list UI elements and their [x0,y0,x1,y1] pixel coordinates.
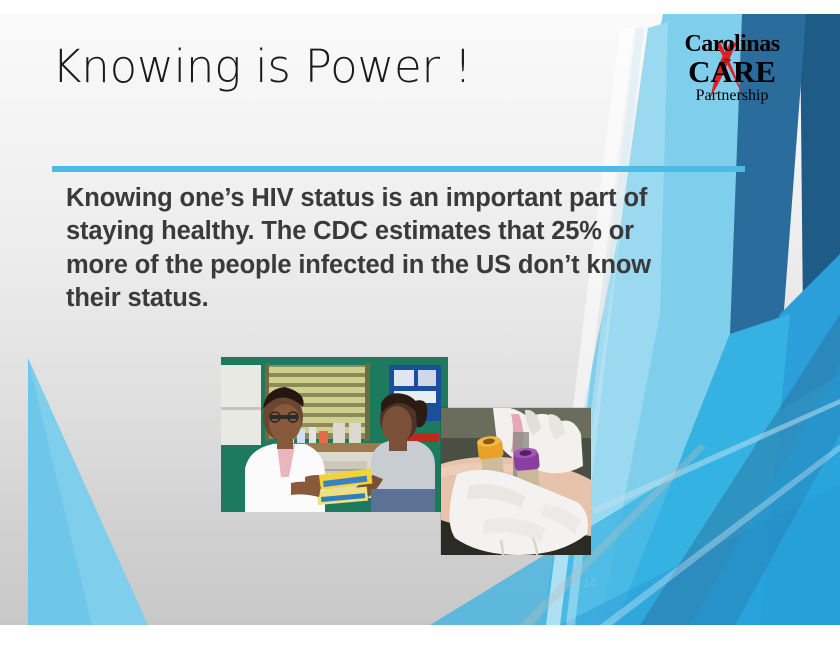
clinic-counseling-photo-art [221,357,448,512]
carolinas-care-partnership-logo: Carolinas CARE Partnership [672,32,792,110]
deco-shape-medium-lower-right [700,254,840,625]
slide-body-text: Knowing one’s HIV status is an important… [66,182,691,316]
logo-line-carolinas: Carolinas [672,32,792,56]
title-accent-rule [52,166,745,172]
logo-line-care: CARE [672,56,792,87]
logo-line-partnership: Partnership [672,88,792,104]
slide-page-number: 14 [583,576,596,590]
blood-draw-photo [441,408,591,555]
slide-title: Knowing is Power ! [52,42,652,92]
deco-shape-cyan-mid [615,314,790,625]
deco-shape-dark-right [800,14,840,625]
deco-shape-wash-lower-c [640,314,840,625]
clinic-counseling-photo [221,357,448,512]
blood-draw-photo-art [441,408,591,555]
deco-shape-left-triangle [28,358,148,625]
deco-shape-wash-lower-b [560,484,840,625]
deco-shape-left-triangle-inner [28,358,92,625]
deco-hairline-b [590,399,840,514]
deco-hairline-a [600,444,840,625]
deco-shape-wash-lower-d [690,364,840,625]
slide-canvas: Knowing is Power ! Knowing one’s HIV sta… [0,14,840,625]
